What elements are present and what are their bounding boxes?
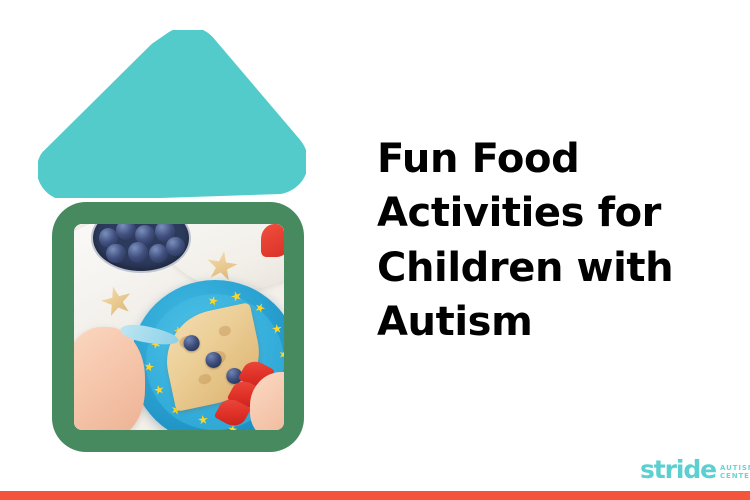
child-hand [74, 327, 145, 430]
headline-line-1: Fun Food [377, 132, 707, 186]
rounded-triangle-decoration [38, 30, 306, 198]
photo-frame [52, 202, 304, 452]
logo-tagline: AUTISM CENTERS [720, 465, 750, 482]
page-title: Fun Food Activities for Children with Au… [377, 132, 707, 350]
bottom-accent-bar [0, 491, 750, 500]
promo-graphic-canvas: Fun Food Activities for Children with Au… [0, 0, 750, 500]
logo-wordmark: stride [640, 457, 716, 482]
rounded-triangle-icon [38, 30, 306, 198]
headline-line-4: Autism [377, 295, 707, 349]
brand-logo[interactable]: stride AUTISM CENTERS [640, 457, 734, 482]
food-activity-photo [74, 224, 284, 430]
logo-tagline-line-2: CENTERS [720, 473, 750, 480]
photo-scene [74, 224, 284, 430]
headline-line-2: Activities for [377, 186, 707, 240]
red-fruit-piece [261, 224, 284, 257]
blueberry-window-2 [205, 352, 221, 368]
blueberry-window-1 [183, 335, 199, 351]
headline-line-3: Children with [377, 241, 707, 295]
